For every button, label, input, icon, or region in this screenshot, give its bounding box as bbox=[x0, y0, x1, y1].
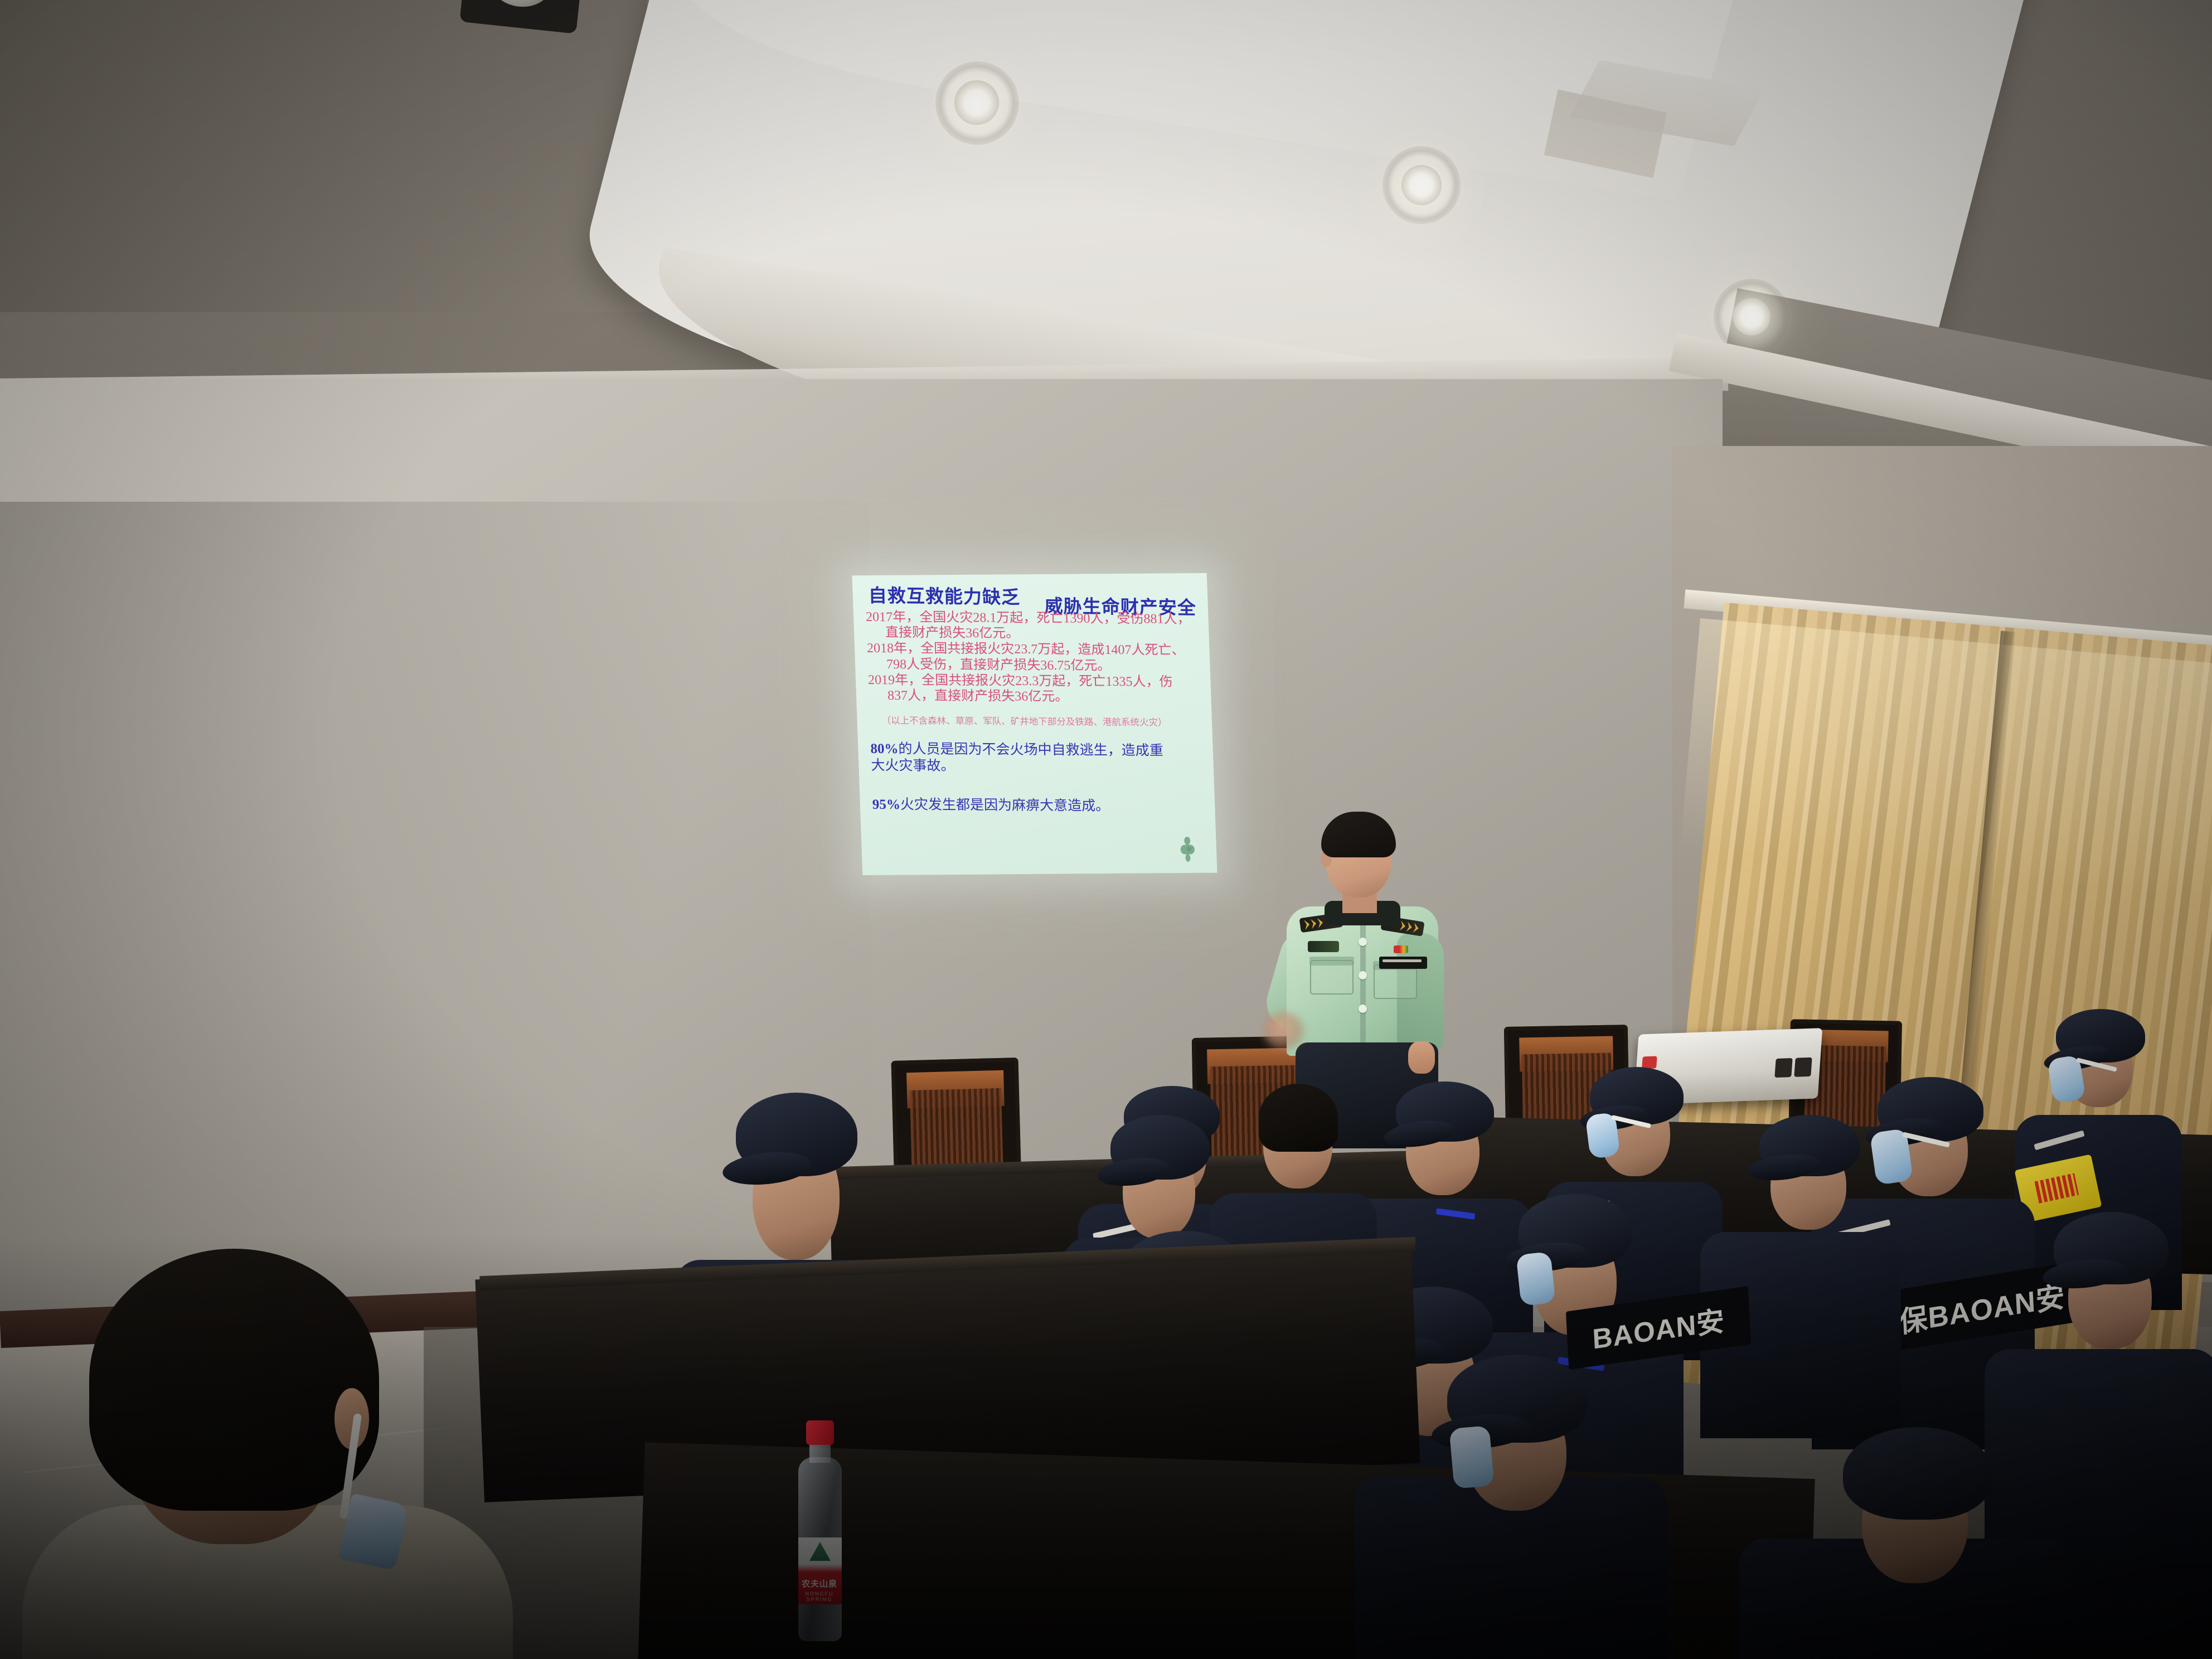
slide-title: 自救互救能力缺乏 威胁生命财产安全 bbox=[869, 587, 1197, 610]
slide-stat-line: 837人，直接财产损失36亿元。 bbox=[887, 688, 1200, 706]
slide-highlight-2-pct: 95% bbox=[872, 797, 901, 812]
bottle-neck bbox=[809, 1443, 831, 1463]
bottle-cap bbox=[806, 1420, 834, 1445]
bottle-brand-text: 农夫山泉 bbox=[794, 1578, 845, 1589]
slide-highlight-1: 80%的人员是因为不会火场中自救逃生，造成重 bbox=[870, 740, 1202, 759]
audience-member-center-right-2 bbox=[1700, 1093, 1901, 1438]
slide-highlight-1-pct: 80% bbox=[870, 741, 899, 756]
presenter-flag-pin-icon bbox=[1394, 945, 1408, 953]
slide-watermark-logo-icon bbox=[1173, 834, 1205, 864]
projected-slide: 自救互救能力缺乏 威胁生命财产安全 2017年，全国火灾28.1万起，死亡139… bbox=[852, 573, 1217, 875]
presenter-name-tag bbox=[1379, 957, 1427, 969]
water-bottle[interactable]: 农夫山泉 NONGFU SPRING bbox=[794, 1420, 845, 1643]
presenter-shirt-placket bbox=[1360, 912, 1366, 1051]
slide-body: 2017年，全国火灾28.1万起，死亡1390人，受伤881人， 直接财产损失3… bbox=[866, 609, 1204, 816]
downlight-2-icon bbox=[1401, 165, 1442, 205]
slide-highlight-1-cont: 大火灾事故。 bbox=[871, 757, 1202, 776]
slide-highlight-2: 95%火灾发生都是因为麻痹大意造成。 bbox=[872, 796, 1204, 815]
slide-stat-line: 2018年，全国共接报火灾23.7万起，造成1407人死亡、 bbox=[867, 641, 1199, 658]
slide-highlight-1-text: 的人员是因为不会火场中自救逃生，造成重 bbox=[898, 741, 1163, 758]
slide-footnote: （以上不含森林、草原、军队、矿井地下部分及铁路、港航系统火灾） bbox=[881, 712, 1201, 728]
foreground-attendee-hair bbox=[89, 1249, 379, 1511]
presenter-hair bbox=[1321, 812, 1396, 857]
downlight-3-icon bbox=[1733, 298, 1770, 336]
ceiling-left-shadow bbox=[0, 0, 647, 312]
slide-title-part1: 自救互救能力缺乏 bbox=[869, 586, 1021, 608]
foreground-attendee bbox=[22, 1193, 513, 1659]
presenter-gesturing-hand bbox=[1263, 1012, 1303, 1049]
downlight-1-icon bbox=[954, 80, 999, 125]
audience-member-front-right-2 bbox=[1739, 1427, 2074, 1659]
slide-stat-line: 2017年，全国火灾28.1万起，死亡1390人，受伤881人， bbox=[866, 609, 1197, 627]
slide-stat-line: 直接财产损失36亿元。 bbox=[885, 625, 1198, 643]
audience-member-front-right-1 bbox=[1355, 1349, 1667, 1659]
curtain-highlight bbox=[1680, 618, 2212, 898]
slide-highlight-2-text: 火灾发生都是因为麻痹大意造成。 bbox=[900, 797, 1110, 814]
meeting-room-scene: 自救互救能力缺乏 威胁生命财产安全 2017年，全国火灾28.1万起，死亡139… bbox=[0, 0, 2212, 1659]
bottle-brand-subtext: NONGFU SPRING bbox=[794, 1591, 845, 1602]
slide-stat-line: 798人受伤，直接财产损失36.75亿元。 bbox=[886, 657, 1199, 675]
presenter-left-pocket-flap bbox=[1309, 957, 1354, 966]
presenter-chest-insignia-icon bbox=[1308, 941, 1339, 952]
